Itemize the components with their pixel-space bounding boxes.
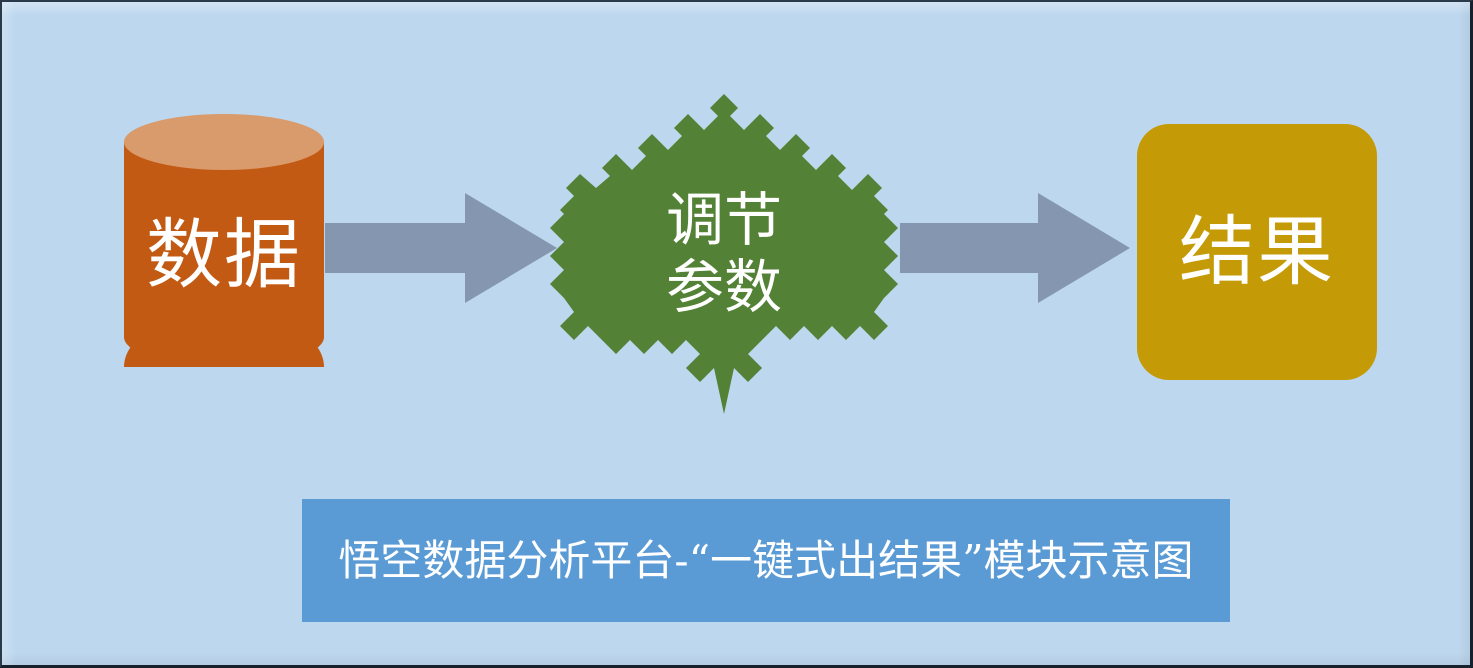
node-result-label: 结果 xyxy=(1179,214,1335,290)
node-tune-parameters[interactable]: 调节 参数 xyxy=(522,52,926,456)
node-data-label: 数据 xyxy=(124,114,324,395)
caption-bar: 悟空数据分析平台-“一键式出结果”模块示意图 xyxy=(302,499,1230,622)
connector-tune-to-result[interactable] xyxy=(900,193,1130,303)
block-arrow-icon xyxy=(900,193,1130,303)
diamond-shape-icon xyxy=(550,94,898,414)
node-data-cylinder[interactable]: 数据 xyxy=(124,114,324,395)
node-result[interactable]: 结果 xyxy=(1137,124,1377,380)
caption-text: 悟空数据分析平台-“一键式出结果”模块示意图 xyxy=(338,540,1193,582)
diagram-canvas: 数据 调节 参数 结果 悟空数据分析平台-“一键式出结果”模块示意图 xyxy=(0,0,1473,668)
